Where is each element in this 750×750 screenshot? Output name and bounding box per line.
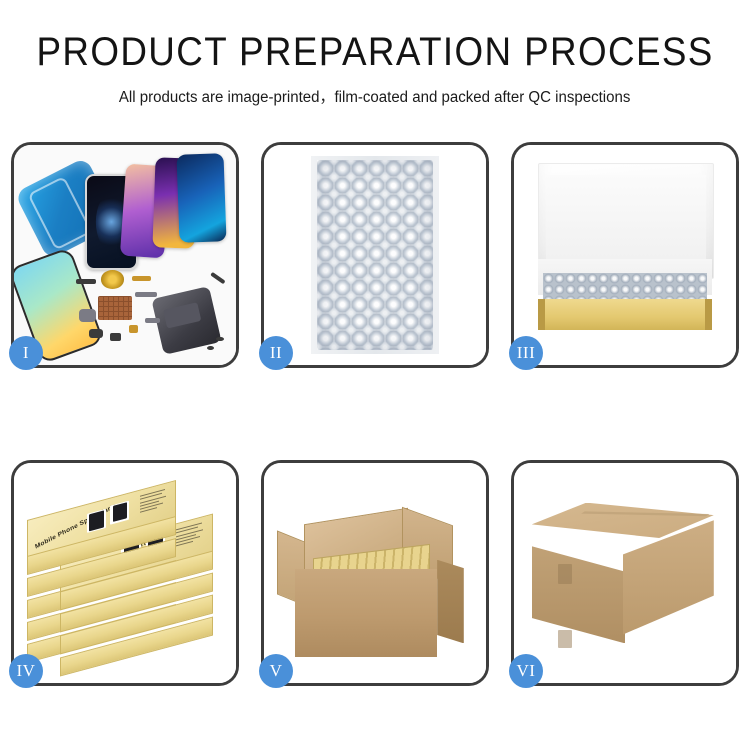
step-badge-5: V [259, 654, 293, 688]
process-steps-grid: I II III Mobile Phone Spare Parts [0, 142, 750, 687]
step-badge-2: II [259, 336, 293, 370]
stacked-boxes-group: Mobile Phone Spare Parts Mobile Phone Sp… [23, 489, 227, 674]
page-title: PRODUCT PREPARATION PROCESS [36, 30, 713, 75]
step-5-illustration [264, 463, 486, 683]
process-step-panel-1[interactable]: I [11, 142, 239, 368]
page-subtitle: All products are image-printed，film-coat… [119, 85, 630, 107]
process-step-panel-3[interactable]: III [511, 142, 739, 368]
phone-backplate-icon [151, 286, 221, 355]
bubble-wrap-overlay [317, 160, 432, 349]
step-6-illustration [514, 463, 736, 683]
step-badge-3: III [509, 336, 543, 370]
kraft-box-base-icon [538, 299, 711, 330]
step-badge-1: I [9, 336, 43, 370]
bubble-wrapped-contents-icon [543, 273, 707, 302]
step-4-illustration: Mobile Phone Spare Parts Mobile Phone Sp… [14, 463, 236, 683]
circuit-board-icon [98, 296, 132, 320]
step-3-illustration [514, 145, 736, 365]
step-2-illustration [264, 145, 486, 365]
step-1-illustration [14, 145, 236, 365]
carton-body-icon [295, 569, 437, 657]
carton-tab [558, 630, 571, 648]
step-badge-6: VI [509, 654, 543, 688]
carton-side-panel [437, 560, 464, 644]
speaker-coil-icon [101, 270, 124, 288]
page-header: PRODUCT PREPARATION PROCESS All products… [0, 0, 750, 128]
step-badge-4: IV [9, 654, 43, 688]
phone-display-icon [177, 153, 227, 243]
process-step-panel-2[interactable]: II [261, 142, 489, 368]
carton-tab [558, 564, 571, 584]
process-step-panel-4[interactable]: Mobile Phone Spare Parts Mobile Phone Sp… [11, 460, 239, 686]
process-step-panel-5[interactable]: V [261, 460, 489, 686]
spare-parts-group [76, 268, 231, 360]
process-step-panel-6[interactable]: VI [511, 460, 739, 686]
